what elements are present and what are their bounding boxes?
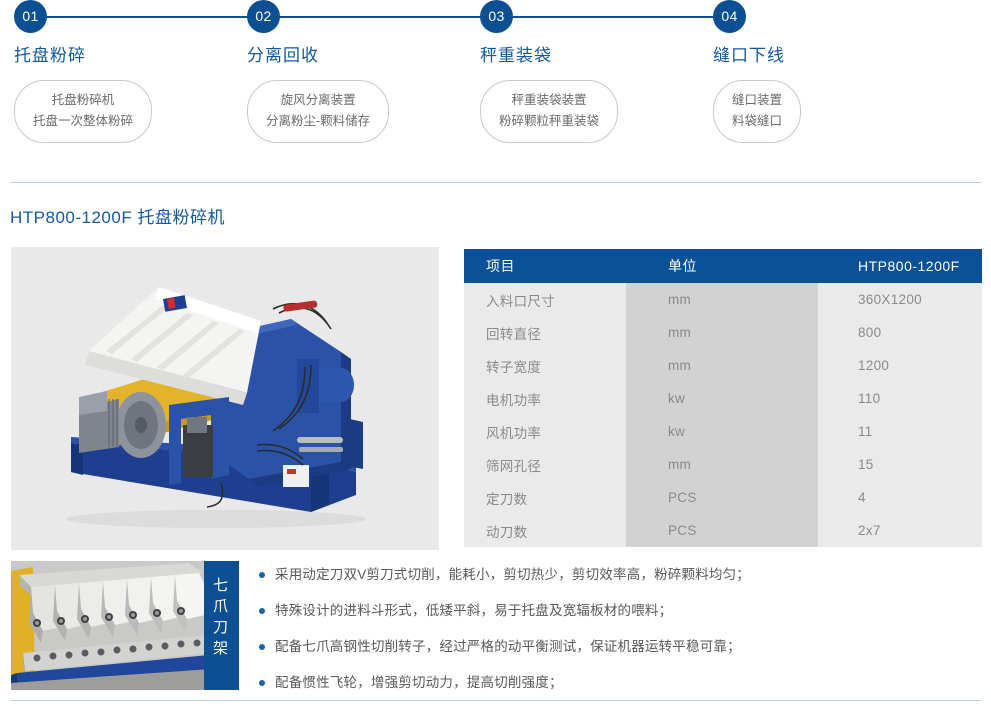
feature-list-item: 采用动定刀双V剪刀式切削，能耗小，剪切热少，剪切效率高，粉碎颗料均匀； — [259, 565, 979, 585]
table-row: 回转直径 mm 800 — [464, 316, 982, 349]
step-detail-pill: 秤重装袋装置 粉碎颗粒秤重装袋 — [480, 80, 618, 143]
header-model: HTP800-1200F — [818, 249, 982, 283]
step-title: 分离回收 — [247, 45, 474, 67]
cell-item: 筛网孔径 — [464, 448, 626, 481]
cell-unit: mm — [626, 349, 818, 382]
table-row: 电机功率 kw 110 — [464, 382, 982, 415]
step-number-badge: 02 — [247, 0, 280, 33]
process-step-4: 04 缝口下线 缝口装置 料袋缝口 — [707, 0, 940, 143]
step-number-badge: 01 — [14, 0, 47, 33]
cell-item: 回转直径 — [464, 316, 626, 349]
cell-unit: PCS — [626, 514, 818, 547]
section-divider-bottom — [10, 700, 981, 701]
table-row: 筛网孔径 mm 15 — [464, 448, 982, 481]
machine-photo — [11, 247, 439, 550]
cell-unit: PCS — [626, 481, 818, 514]
process-step-2: 02 分离回收 旋风分离装置 分离粉尘-颗料储存 — [241, 0, 474, 143]
cell-item: 风机功率 — [464, 415, 626, 448]
cell-item: 定刀数 — [464, 481, 626, 514]
step-detail-line: 旋风分离装置 — [266, 90, 370, 111]
step-detail-pill: 缝口装置 料袋缝口 — [713, 80, 801, 143]
process-step-3: 03 秤重装袋 秤重装袋装置 粉碎颗粒秤重装袋 — [474, 0, 707, 143]
process-step-1: 01 托盘粉碎 托盘粉碎机 托盘一次整体粉碎 — [8, 0, 241, 143]
cell-unit: kw — [626, 415, 818, 448]
step-detail-line: 托盘粉碎机 — [33, 90, 133, 111]
cell-item: 转子宽度 — [464, 349, 626, 382]
step-title: 缝口下线 — [713, 45, 940, 67]
table-header-row: 项目 单位 HTP800-1200F — [464, 249, 982, 283]
section-divider-top — [10, 182, 981, 183]
header-unit: 单位 — [626, 249, 818, 283]
cell-unit: mm — [626, 316, 818, 349]
cell-value: 360X1200 — [818, 283, 982, 316]
table-row: 动刀数 PCS 2x7 — [464, 514, 982, 547]
step-title: 秤重装袋 — [480, 45, 707, 67]
table-row: 风机功率 kw 11 — [464, 415, 982, 448]
table-head: 项目 单位 HTP800-1200F — [464, 249, 982, 283]
cell-item: 电机功率 — [464, 382, 626, 415]
cell-item: 动刀数 — [464, 514, 626, 547]
step-detail-line: 料袋缝口 — [732, 111, 782, 132]
step-detail-pill: 托盘粉碎机 托盘一次整体粉碎 — [14, 80, 152, 143]
table-body: 入料口尺寸 mm 360X1200 回转直径 mm 800 转子宽度 mm 12… — [464, 283, 982, 547]
rotor-label-char: 刀 — [204, 617, 239, 638]
rotor-photo: 七 爪 刀 架 — [11, 561, 239, 690]
rotor-label-badge: 七 爪 刀 架 — [204, 561, 239, 690]
table-row: 转子宽度 mm 1200 — [464, 349, 982, 382]
step-detail-line: 缝口装置 — [732, 90, 782, 111]
cell-value: 4 — [818, 481, 982, 514]
machine-photo-illustration — [11, 247, 439, 550]
header-item: 项目 — [464, 249, 626, 283]
cell-unit: kw — [626, 382, 818, 415]
step-detail-line: 托盘一次整体粉碎 — [33, 111, 133, 132]
feature-list-item: 特殊设计的进料斗形式，低矮平斜，易于托盘及宽辐板材的喂料； — [259, 601, 979, 621]
cell-unit: mm — [626, 283, 818, 316]
rotor-label-char: 架 — [204, 638, 239, 659]
step-title: 托盘粉碎 — [14, 45, 241, 67]
process-flow: 01 托盘粉碎 托盘粉碎机 托盘一次整体粉碎 02 分离回收 旋风分离装置 分离… — [0, 0, 991, 168]
cell-value: 800 — [818, 316, 982, 349]
cell-value: 1200 — [818, 349, 982, 382]
cell-value: 2x7 — [818, 514, 982, 547]
specification-table: 项目 单位 HTP800-1200F 入料口尺寸 mm 360X1200 回转直… — [464, 249, 982, 547]
cell-unit: mm — [626, 448, 818, 481]
product-title: HTP800-1200F 托盘粉碎机 — [10, 203, 225, 228]
feature-list-item: 配备七爪高钢性切削转子，经过严格的动平衡测试，保证机器运转平稳可靠； — [259, 637, 979, 657]
step-number-badge: 03 — [480, 0, 513, 33]
step-number-badge: 04 — [713, 0, 746, 33]
cell-item: 入料口尺寸 — [464, 283, 626, 316]
step-detail-line: 分离粉尘-颗料储存 — [266, 111, 370, 132]
step-detail-pill: 旋风分离装置 分离粉尘-颗料储存 — [247, 80, 389, 143]
rotor-label-char: 七 — [204, 575, 239, 596]
rotor-label-char: 爪 — [204, 596, 239, 617]
table-row: 入料口尺寸 mm 360X1200 — [464, 283, 982, 316]
feature-list-item: 配备惯性飞轮，增强剪切动力，提高切削强度； — [259, 673, 979, 693]
step-detail-line: 粉碎颗粒秤重装袋 — [499, 111, 599, 132]
feature-list: 采用动定刀双V剪刀式切削，能耗小，剪切热少，剪切效率高，粉碎颗料均匀； 特殊设计… — [259, 565, 979, 709]
table-row: 定刀数 PCS 4 — [464, 481, 982, 514]
step-detail-line: 秤重装袋装置 — [499, 90, 599, 111]
cell-value: 110 — [818, 382, 982, 415]
cell-value: 11 — [818, 415, 982, 448]
cell-value: 15 — [818, 448, 982, 481]
